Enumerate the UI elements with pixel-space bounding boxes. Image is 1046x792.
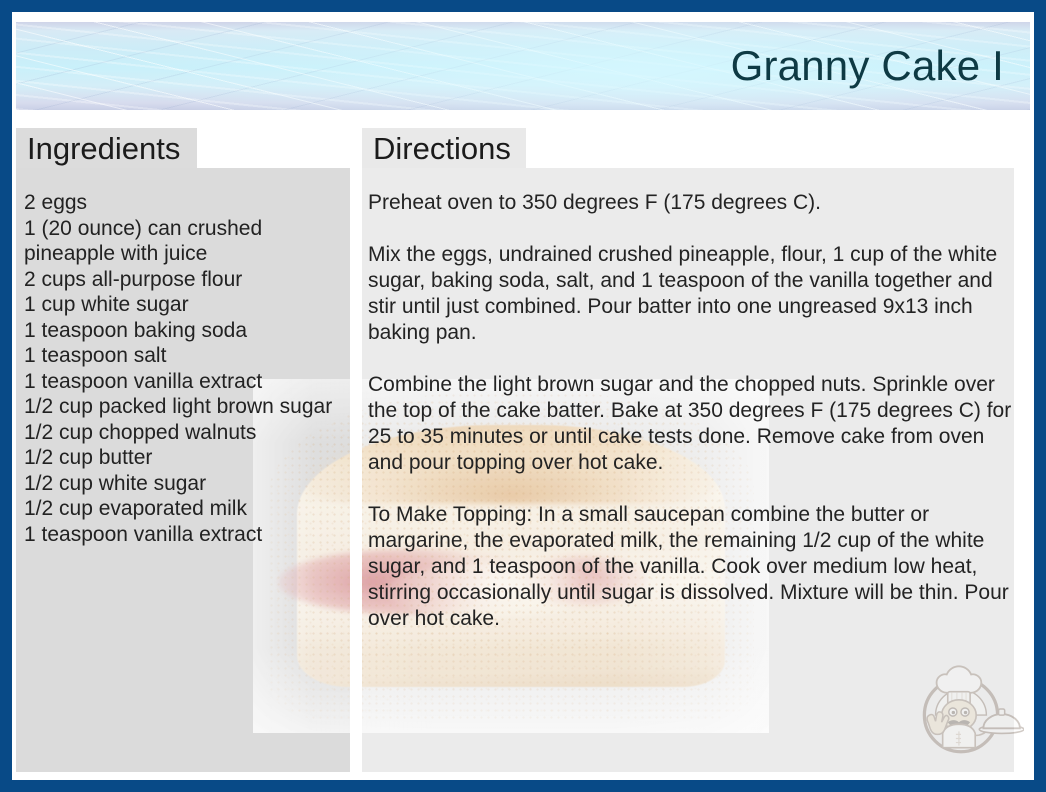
ingredient-line: 1 (20 ounce) can crushed — [24, 216, 354, 242]
section-tab-ingredients: Ingredients — [16, 128, 197, 168]
section-tab-directions: Directions — [362, 128, 526, 168]
ingredient-line: 1/2 cup butter — [24, 445, 354, 471]
ingredients-heading: Ingredients — [27, 133, 180, 164]
ingredient-line: 2 cups all-purpose flour — [24, 267, 354, 293]
ingredient-line: pineapple with juice — [24, 241, 354, 267]
ingredient-line: 1 teaspoon salt — [24, 343, 354, 369]
direction-step: To Make Topping: In a small saucepan com… — [368, 502, 1016, 632]
ingredient-line: 1/2 cup chopped walnuts — [24, 420, 354, 446]
ingredient-line: 2 eggs — [24, 190, 354, 216]
directions-steps: Preheat oven to 350 degrees F (175 degre… — [368, 190, 1016, 632]
ingredient-line: 1/2 cup evaporated milk — [24, 496, 354, 522]
ingredient-line: 1 teaspoon baking soda — [24, 318, 354, 344]
ingredients-list: 2 eggs1 (20 ounce) can crushedpineapple … — [24, 190, 354, 547]
header-banner: Granny Cake I — [16, 22, 1030, 110]
direction-step: Mix the eggs, undrained crushed pineappl… — [368, 242, 1016, 346]
direction-step: Combine the light brown sugar and the ch… — [368, 372, 1016, 476]
ingredient-line: 1 cup white sugar — [24, 292, 354, 318]
ingredient-line: 1 teaspoon vanilla extract — [24, 522, 354, 548]
directions-heading: Directions — [373, 133, 511, 164]
ingredient-line: 1/2 cup white sugar — [24, 471, 354, 497]
ingredient-line: 1/2 cup packed light brown sugar — [24, 394, 354, 420]
direction-step: Preheat oven to 350 degrees F (175 degre… — [368, 190, 1016, 216]
recipe-card: Granny Cake I Ingredients Directions 2 e… — [0, 0, 1046, 792]
page-title: Granny Cake I — [731, 42, 1004, 90]
ingredient-line: 1 teaspoon vanilla extract — [24, 369, 354, 395]
